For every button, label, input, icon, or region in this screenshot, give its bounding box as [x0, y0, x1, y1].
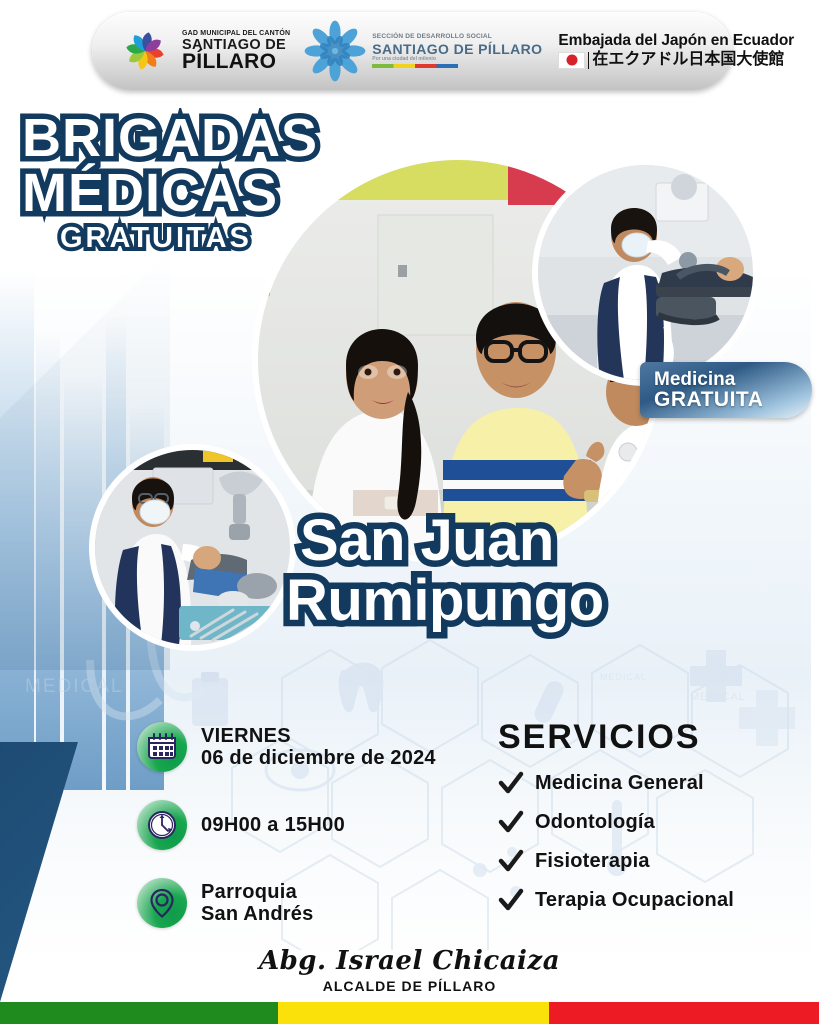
headline-line3: GRATUITAS: [60, 224, 318, 252]
embassy-line-es: Embajada del Japón en Ecuador: [558, 33, 794, 49]
svg-text:MEDICAL: MEDICAL: [25, 676, 123, 697]
social-logo-colorbar: [372, 64, 458, 68]
headline-line2: MÉDICAS: [22, 167, 318, 220]
info-date-text: VIERNES 06 de diciembre de 2024: [201, 725, 436, 770]
info-time-text: 09H00 a 15H00: [201, 814, 345, 836]
services-block: SERVICIOS Medicina General Odontología F…: [498, 718, 734, 913]
info-row-time: 09H00 a 15H00: [137, 800, 436, 850]
gad-logo-block: GAD MUNICIPAL DEL CANTÓN SANTIAGO DE PÍL…: [114, 20, 290, 82]
medicina-gratuita-badge: Medicina GRATUITA: [640, 362, 812, 418]
service-label: Medicina General: [535, 772, 704, 795]
place-title: San Juan Rumipungo: [300, 512, 604, 630]
badge-line2: GRATUITA: [654, 389, 812, 410]
ecuador-flag-strip: [0, 1002, 819, 1024]
services-title: SERVICIOS: [498, 718, 734, 757]
event-info-list: VIERNES 06 de diciembre de 2024 09H00 a …: [137, 722, 436, 928]
japan-flag-icon: [558, 52, 585, 69]
social-logo-line1: SECCIÓN DE DESARROLLO SOCIAL: [372, 34, 542, 41]
location-pin-icon: [137, 878, 187, 928]
flower-logo-icon: [304, 20, 366, 82]
check-icon: [498, 809, 524, 835]
check-icon: [498, 770, 524, 796]
social-logo-line3: Por una ciudad del milenio: [372, 57, 542, 62]
clock-icon: [137, 800, 187, 850]
flag-red: [549, 1002, 819, 1024]
check-icon: [498, 887, 524, 913]
info-location-text: Parroquia San Andrés: [201, 881, 313, 926]
check-icon: [498, 848, 524, 874]
gad-logo-line3: PÍLLARO: [182, 51, 290, 72]
info-date-line1: VIERNES: [201, 725, 436, 747]
flag-yellow: [278, 1002, 548, 1024]
info-row-date: VIERNES 06 de diciembre de 2024: [137, 722, 436, 772]
social-logo-block: SECCIÓN DE DESARROLLO SOCIAL SANTIAGO DE…: [304, 20, 542, 82]
service-label: Odontología: [535, 811, 655, 834]
mayor-role: ALCALDE DE PÍLLARO: [0, 978, 819, 994]
dentistry-photo: [95, 450, 290, 645]
logo-header-bar: GAD MUNICIPAL DEL CANTÓN SANTIAGO DE PÍL…: [92, 12, 732, 90]
info-row-location: Parroquia San Andrés: [137, 878, 436, 928]
svg-text:MEDICAL: MEDICAL: [600, 672, 647, 682]
info-location-line2: San Andrés: [201, 903, 313, 925]
social-logo-line2: SANTIAGO DE PÍLLARO: [372, 42, 542, 56]
embassy-block: Embajada del Japón en Ecuador 在エクアドル日本国大…: [558, 33, 794, 68]
place-title-line1: San Juan: [300, 512, 604, 570]
service-item: Terapia Ocupacional: [498, 887, 734, 913]
svg-text:MEDICAL: MEDICAL: [690, 691, 746, 703]
flag-green: [0, 1002, 278, 1024]
calendar-icon: [137, 722, 187, 772]
place-title-line2: Rumipungo: [286, 572, 604, 630]
info-time-line1: 09H00 a 15H00: [201, 814, 345, 836]
headline-line1: BRIGADAS: [22, 112, 318, 165]
pinwheel-logo-icon: [114, 20, 176, 82]
embassy-line-jp: 在エクアドル日本国大使館: [588, 52, 784, 69]
badge-line1: Medicina: [654, 370, 812, 389]
info-date-line2: 06 de diciembre de 2024: [201, 747, 436, 769]
info-location-line1: Parroquia: [201, 881, 313, 903]
poster-root: MEDICAL MEDICAL MEDICAL: [0, 0, 819, 1024]
gad-logo-text: GAD MUNICIPAL DEL CANTÓN SANTIAGO DE PÍL…: [182, 30, 290, 73]
gad-logo-line1: GAD MUNICIPAL DEL CANTÓN: [182, 30, 290, 37]
physiotherapy-photo: [538, 165, 753, 380]
social-logo-text: SECCIÓN DE DESARROLLO SOCIAL SANTIAGO DE…: [372, 34, 542, 69]
service-item: Medicina General: [498, 770, 734, 796]
service-label: Fisioterapia: [535, 850, 650, 873]
right-margin: [811, 0, 819, 1002]
service-label: Terapia Ocupacional: [535, 889, 734, 912]
footer-signature-block: Abg. Israel Chicaiza ALCALDE DE PÍLLARO: [0, 946, 819, 994]
service-item: Fisioterapia: [498, 848, 734, 874]
service-item: Odontología: [498, 809, 734, 835]
headline-block: BRIGADAS MÉDICAS GRATUITAS: [22, 112, 318, 252]
mayor-signature: Abg. Israel Chicaiza: [0, 946, 819, 976]
